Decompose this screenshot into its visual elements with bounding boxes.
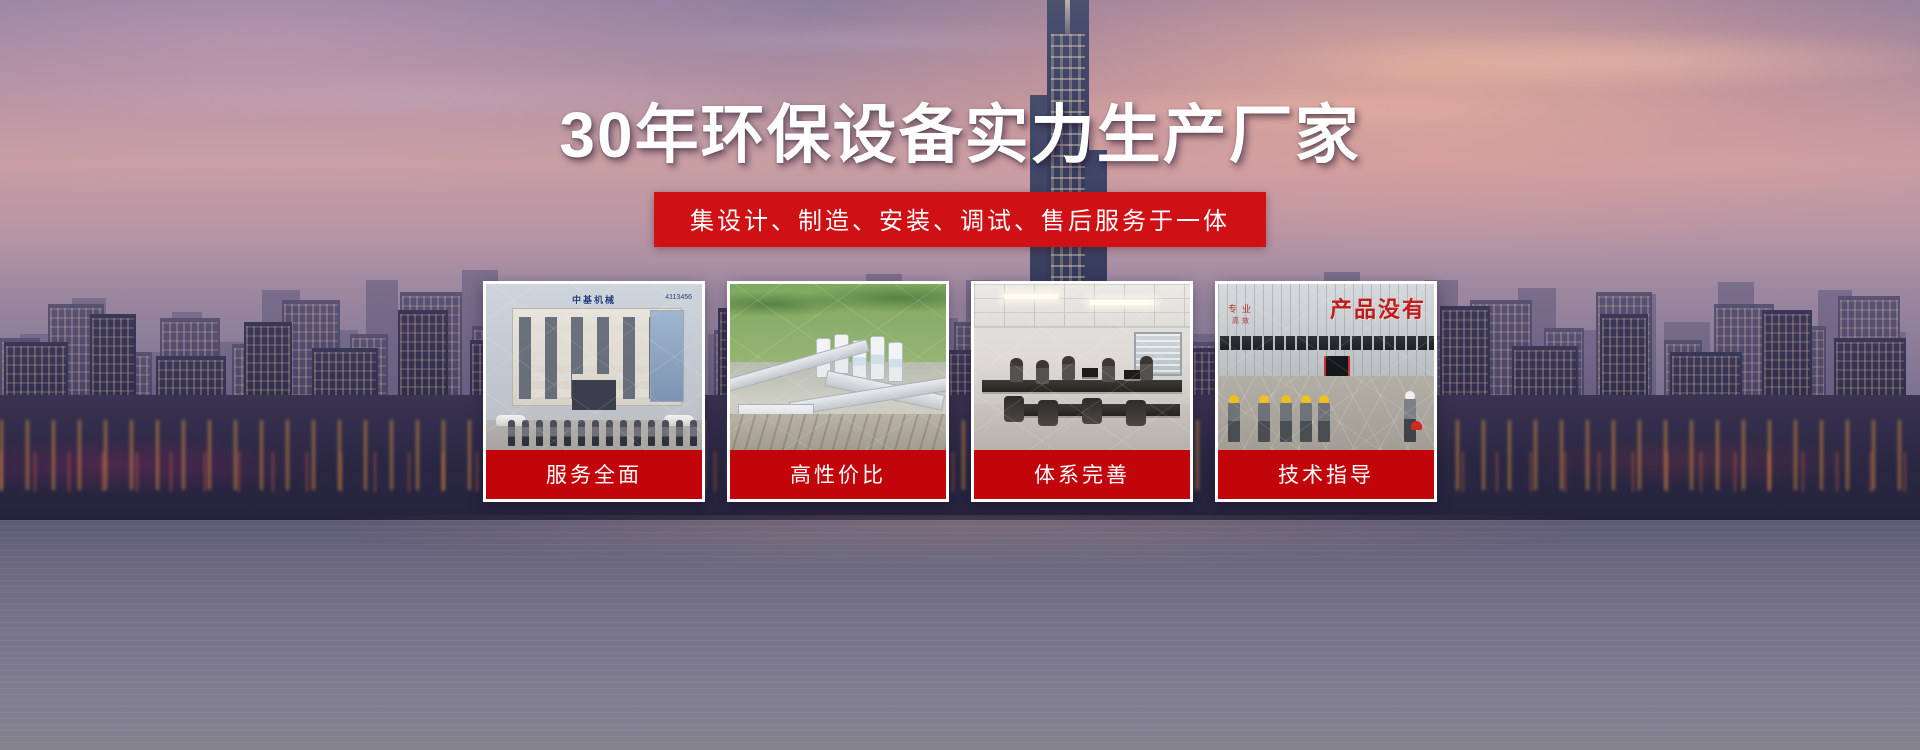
feature-card-guidance[interactable]: 产品没有 专业 高效 技术指导 — [1215, 281, 1437, 502]
office-worker — [1010, 358, 1023, 382]
aerial-production-plant-photo — [730, 284, 946, 450]
workshop-workers-photo: 产品没有 专业 高效 — [1218, 284, 1434, 450]
office-worker — [1140, 356, 1153, 380]
office-worker — [1036, 360, 1049, 384]
desktop-monitor — [1082, 368, 1098, 379]
office-chair — [1082, 398, 1102, 424]
storage-silo — [888, 342, 903, 382]
workshop-slogan-secondary: 高效 — [1232, 316, 1252, 326]
feature-card-label: 技术指导 — [1218, 450, 1434, 499]
office-worker — [1062, 356, 1075, 380]
building-glass-wing — [650, 310, 684, 402]
building-entrance — [572, 374, 616, 410]
worker-with-helmet — [1258, 402, 1270, 442]
banner-subtitle-bar: 集设计、制造、安装、调试、售后服务于一体 — [654, 192, 1266, 247]
workshop-banner-text: 产品没有 — [1330, 292, 1426, 324]
supervisor-worker — [1404, 398, 1416, 442]
banner-headline: 30年环保设备实力生产厂家 — [0, 103, 1920, 167]
workshop-window-strip — [1218, 336, 1434, 350]
worker-with-helmet — [1318, 402, 1330, 442]
feature-card-system[interactable]: 体系完善 — [971, 281, 1193, 502]
office-interior-photo — [974, 284, 1190, 450]
building-phone-number: 4113456 — [665, 294, 692, 301]
red-helmet-in-hand — [1411, 421, 1422, 430]
feature-card-label: 服务全面 — [486, 450, 702, 499]
office-chair — [1004, 396, 1024, 422]
office-ceiling — [974, 284, 1190, 328]
company-office-building-photo: 中基机械 4113456 — [486, 284, 702, 450]
ceiling-light — [1004, 294, 1058, 299]
office-chair — [1126, 400, 1146, 426]
feature-card-label: 体系完善 — [974, 450, 1190, 499]
desktop-monitor — [1124, 370, 1140, 381]
feature-card-row: 中基机械 4113456 服务全面 — [483, 281, 1437, 502]
worker-with-helmet — [1228, 402, 1240, 442]
office-chair — [1038, 400, 1058, 426]
feature-card-label: 高性价比 — [730, 450, 946, 499]
building-company-sign: 中基机械 — [572, 293, 616, 306]
feature-card-value[interactable]: 高性价比 — [727, 281, 949, 502]
ceiling-light — [1090, 300, 1154, 305]
office-worker — [1102, 358, 1115, 382]
worker-with-helmet — [1280, 402, 1292, 442]
hero-banner: 30年环保设备实力生产厂家 集设计、制造、安装、调试、售后服务于一体 中基机械 … — [0, 0, 1920, 750]
worker-with-helmet — [1300, 402, 1312, 442]
banner-content: 30年环保设备实力生产厂家 集设计、制造、安装、调试、售后服务于一体 中基机械 … — [0, 0, 1920, 750]
staff-lineup — [508, 420, 702, 446]
feature-card-service[interactable]: 中基机械 4113456 服务全面 — [483, 281, 705, 502]
workshop-slogan-primary: 专业 — [1228, 302, 1256, 315]
plant-yard-road — [730, 414, 946, 450]
storage-silo — [870, 336, 885, 380]
